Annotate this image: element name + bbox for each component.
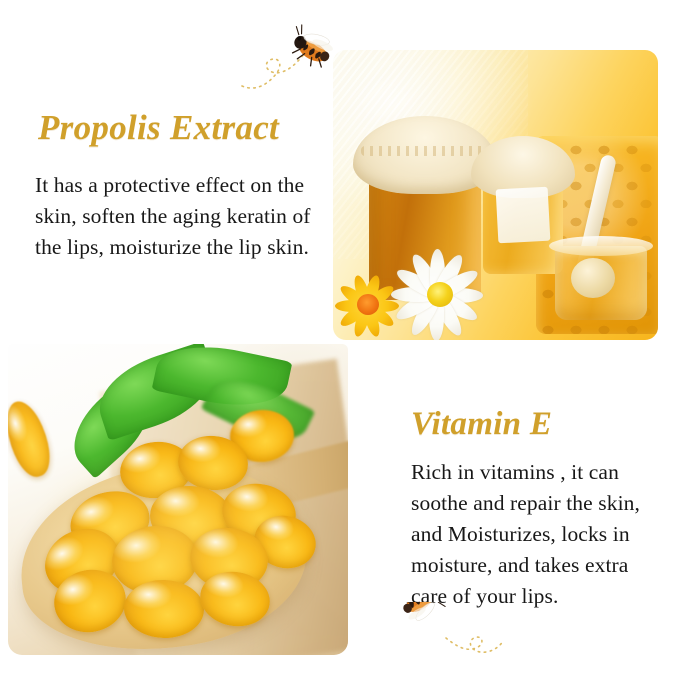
propolis-description: It has a protective effect on the skin, … — [35, 170, 315, 263]
bee-bottom-icon — [400, 602, 506, 664]
honey-jar-medium — [483, 178, 563, 274]
vitamin-e-heading: Vitamin E — [411, 406, 552, 443]
honey-jars-photo — [333, 50, 658, 340]
yellow-flower-center — [357, 294, 379, 315]
bee-top-icon — [238, 18, 342, 94]
vitamin-e-description: Rich in vitamins , it can soothe and rep… — [411, 457, 651, 612]
jar-label — [496, 187, 551, 244]
yellow-flower — [333, 268, 409, 340]
infographic-canvas: Propolis Extract It has a protective eff… — [0, 0, 679, 679]
honey-dipper-head — [571, 258, 615, 298]
vitamin-e-capsules-photo — [8, 344, 348, 655]
daisy-center — [427, 282, 453, 307]
jar-rim — [549, 236, 653, 256]
vitamin-capsule — [8, 396, 57, 481]
propolis-heading: Propolis Extract — [38, 108, 279, 148]
